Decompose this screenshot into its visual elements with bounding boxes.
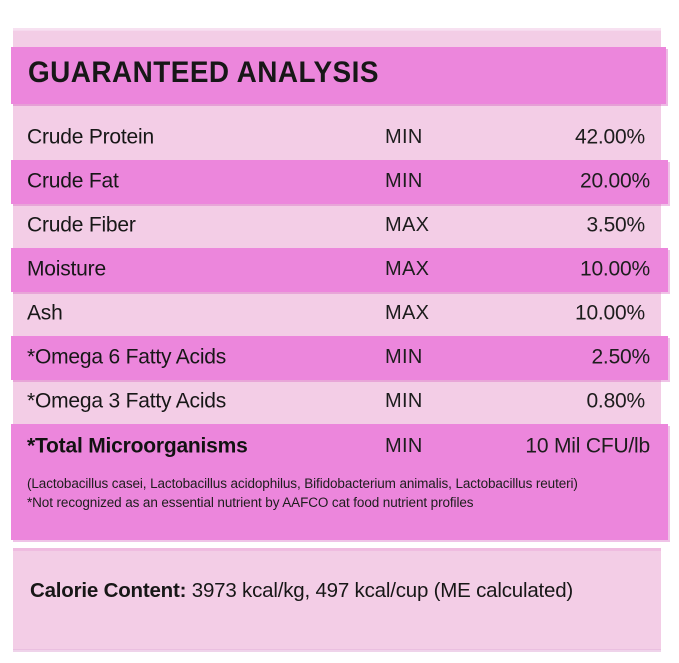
nutrient-name: Moisture (27, 258, 106, 282)
nutrient-amount: 10.00% (580, 258, 650, 282)
microorganisms-block: *Total Microorganisms MIN 10 Mil CFU/lb … (11, 424, 668, 540)
calorie-content-panel: Calorie Content: 3973 kcal/kg, 497 kcal/… (13, 551, 661, 650)
nutrient-table: Crude Protein MIN 42.00% Crude Fat MIN 2… (0, 116, 679, 424)
nutrient-name: Crude Protein (27, 126, 154, 150)
nutrient-qualifier: MAX (385, 302, 429, 325)
nutrient-amount: 10.00% (575, 302, 645, 326)
guaranteed-analysis-title-band: GUARANTEED ANALYSIS (11, 47, 666, 104)
table-row: Moisture MAX 10.00% (11, 248, 668, 292)
page-title: GUARANTEED ANALYSIS (28, 56, 379, 90)
nutrient-name: *Total Microorganisms (27, 435, 248, 459)
nutrient-name: *Omega 6 Fatty Acids (27, 346, 226, 370)
calorie-content-label: Calorie Content: (30, 579, 186, 602)
footnote-strains: (Lactobacillus casei, Lactobacillus acid… (27, 474, 654, 493)
table-row: Crude Fat MIN 20.00% (11, 160, 668, 204)
nutrient-qualifier: MIN (385, 435, 423, 458)
calorie-content-value: 3973 kcal/kg, 497 kcal/cup (ME calculate… (186, 579, 573, 602)
nutrient-qualifier: MIN (385, 170, 423, 193)
nutrient-amount: 0.80% (586, 390, 645, 414)
nutrient-amount: 42.00% (575, 126, 645, 150)
table-row: Ash MAX 10.00% (13, 292, 661, 336)
nutrient-name: Crude Fat (27, 170, 119, 194)
table-row: Crude Fiber MAX 3.50% (13, 204, 661, 248)
nutrient-qualifier: MIN (385, 346, 423, 369)
nutrient-qualifier: MAX (385, 258, 429, 281)
nutrient-amount: 10 Mil CFU/lb (525, 435, 650, 459)
footnote-aafco: *Not recognized as an essential nutrient… (27, 493, 654, 512)
nutrient-name: *Omega 3 Fatty Acids (27, 390, 226, 414)
nutrient-amount: 20.00% (580, 170, 650, 194)
footnotes: (Lactobacillus casei, Lactobacillus acid… (27, 474, 654, 512)
table-row: *Omega 6 Fatty Acids MIN 2.50% (11, 336, 668, 380)
table-row: *Total Microorganisms MIN 10 Mil CFU/lb (11, 424, 668, 470)
nutrient-amount: 3.50% (586, 214, 645, 238)
nutrient-qualifier: MIN (385, 126, 423, 149)
nutrient-qualifier: MIN (385, 390, 423, 413)
calorie-content-line: Calorie Content: 3973 kcal/kg, 497 kcal/… (30, 579, 573, 603)
guaranteed-analysis-label: GUARANTEED ANALYSIS Crude Protein MIN 42… (0, 0, 679, 663)
table-row: Crude Protein MIN 42.00% (13, 116, 661, 160)
nutrient-qualifier: MAX (385, 214, 429, 237)
table-row: *Omega 3 Fatty Acids MIN 0.80% (13, 380, 661, 424)
nutrient-name: Ash (27, 302, 63, 326)
nutrient-name: Crude Fiber (27, 214, 136, 238)
nutrient-amount: 2.50% (591, 346, 650, 370)
